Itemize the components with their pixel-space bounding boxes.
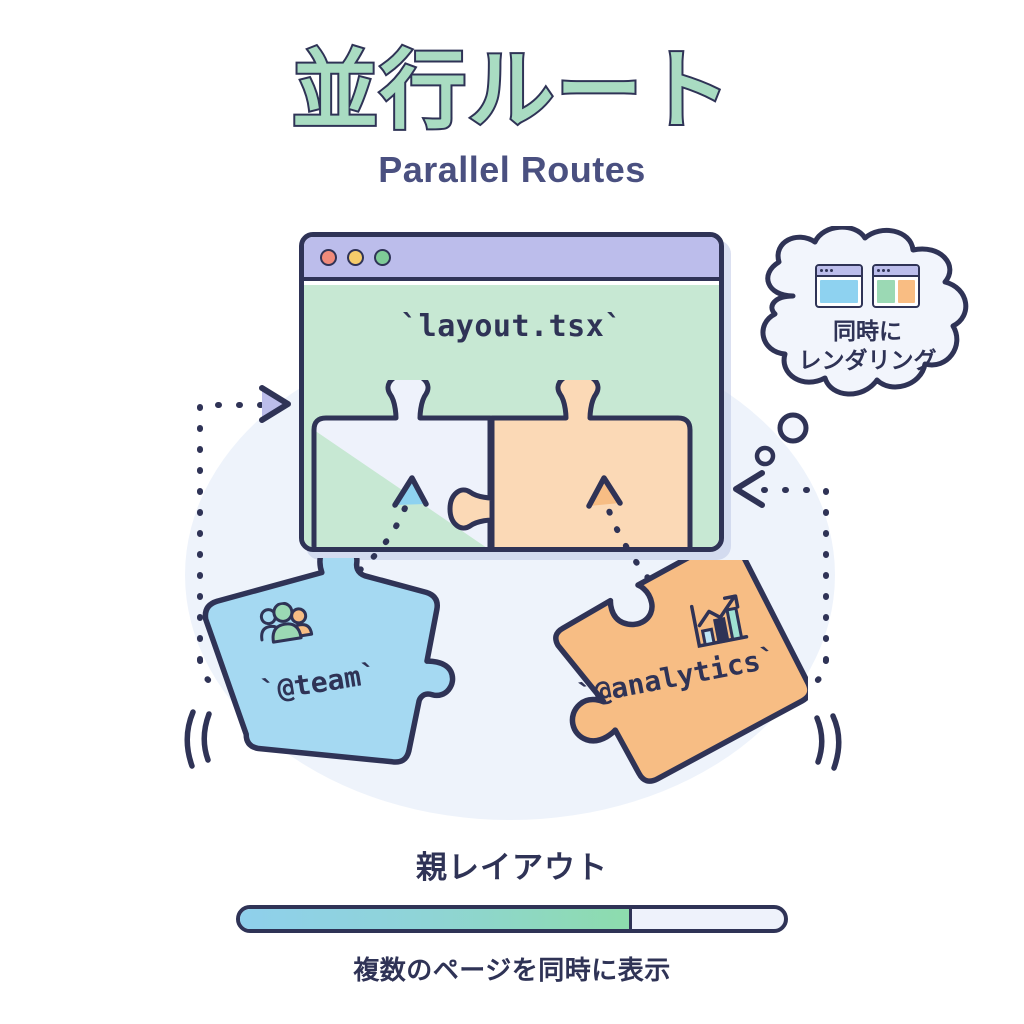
split-panel-window-icon: [872, 264, 920, 308]
footer-title: 親レイアウト: [0, 842, 1024, 887]
page-subtitle-en: Parallel Routes: [0, 149, 1024, 191]
single-panel-window-icon: [815, 264, 863, 308]
team-puzzle-card[interactable]: `@team`: [188, 558, 478, 793]
layout-file-label: `layout.tsx`: [304, 309, 719, 344]
puzzle-slots-group: [304, 380, 719, 552]
thought-bubble: 同時に レンダリング: [745, 226, 990, 426]
browser-window: `layout.tsx`: [299, 232, 724, 552]
bar-chart-icon: [683, 593, 753, 660]
footer-caption: 複数のページを同時に表示: [0, 950, 1024, 987]
progress-bar-fill: [240, 909, 632, 929]
browser-content: `layout.tsx`: [304, 285, 719, 552]
thought-bubble-tail: [745, 408, 815, 478]
close-dot-icon[interactable]: [320, 249, 337, 266]
maximize-dot-icon[interactable]: [374, 249, 391, 266]
progress-bar[interactable]: [236, 905, 788, 933]
header: 並行ルート Parallel Routes: [0, 46, 1024, 191]
browser-titlebar: [304, 237, 719, 281]
illustration-canvas: 並行ルート Parallel Routes `layout.tsx`: [0, 0, 1024, 1024]
footer: 親レイアウト 複数のページを同時に表示: [0, 842, 1024, 987]
page-title-jp: 並行ルート: [0, 46, 1024, 137]
mini-windows-group: [745, 264, 990, 308]
people-group-icon: [255, 598, 318, 653]
minimize-dot-icon[interactable]: [347, 249, 364, 266]
thought-bubble-cloud: [745, 226, 990, 426]
analytics-motion-lines-icon: [817, 716, 839, 768]
analytics-puzzle-shape: [518, 560, 808, 795]
analytics-puzzle-card[interactable]: `@analytics`: [518, 560, 808, 795]
team-puzzle-shape: [188, 558, 478, 793]
